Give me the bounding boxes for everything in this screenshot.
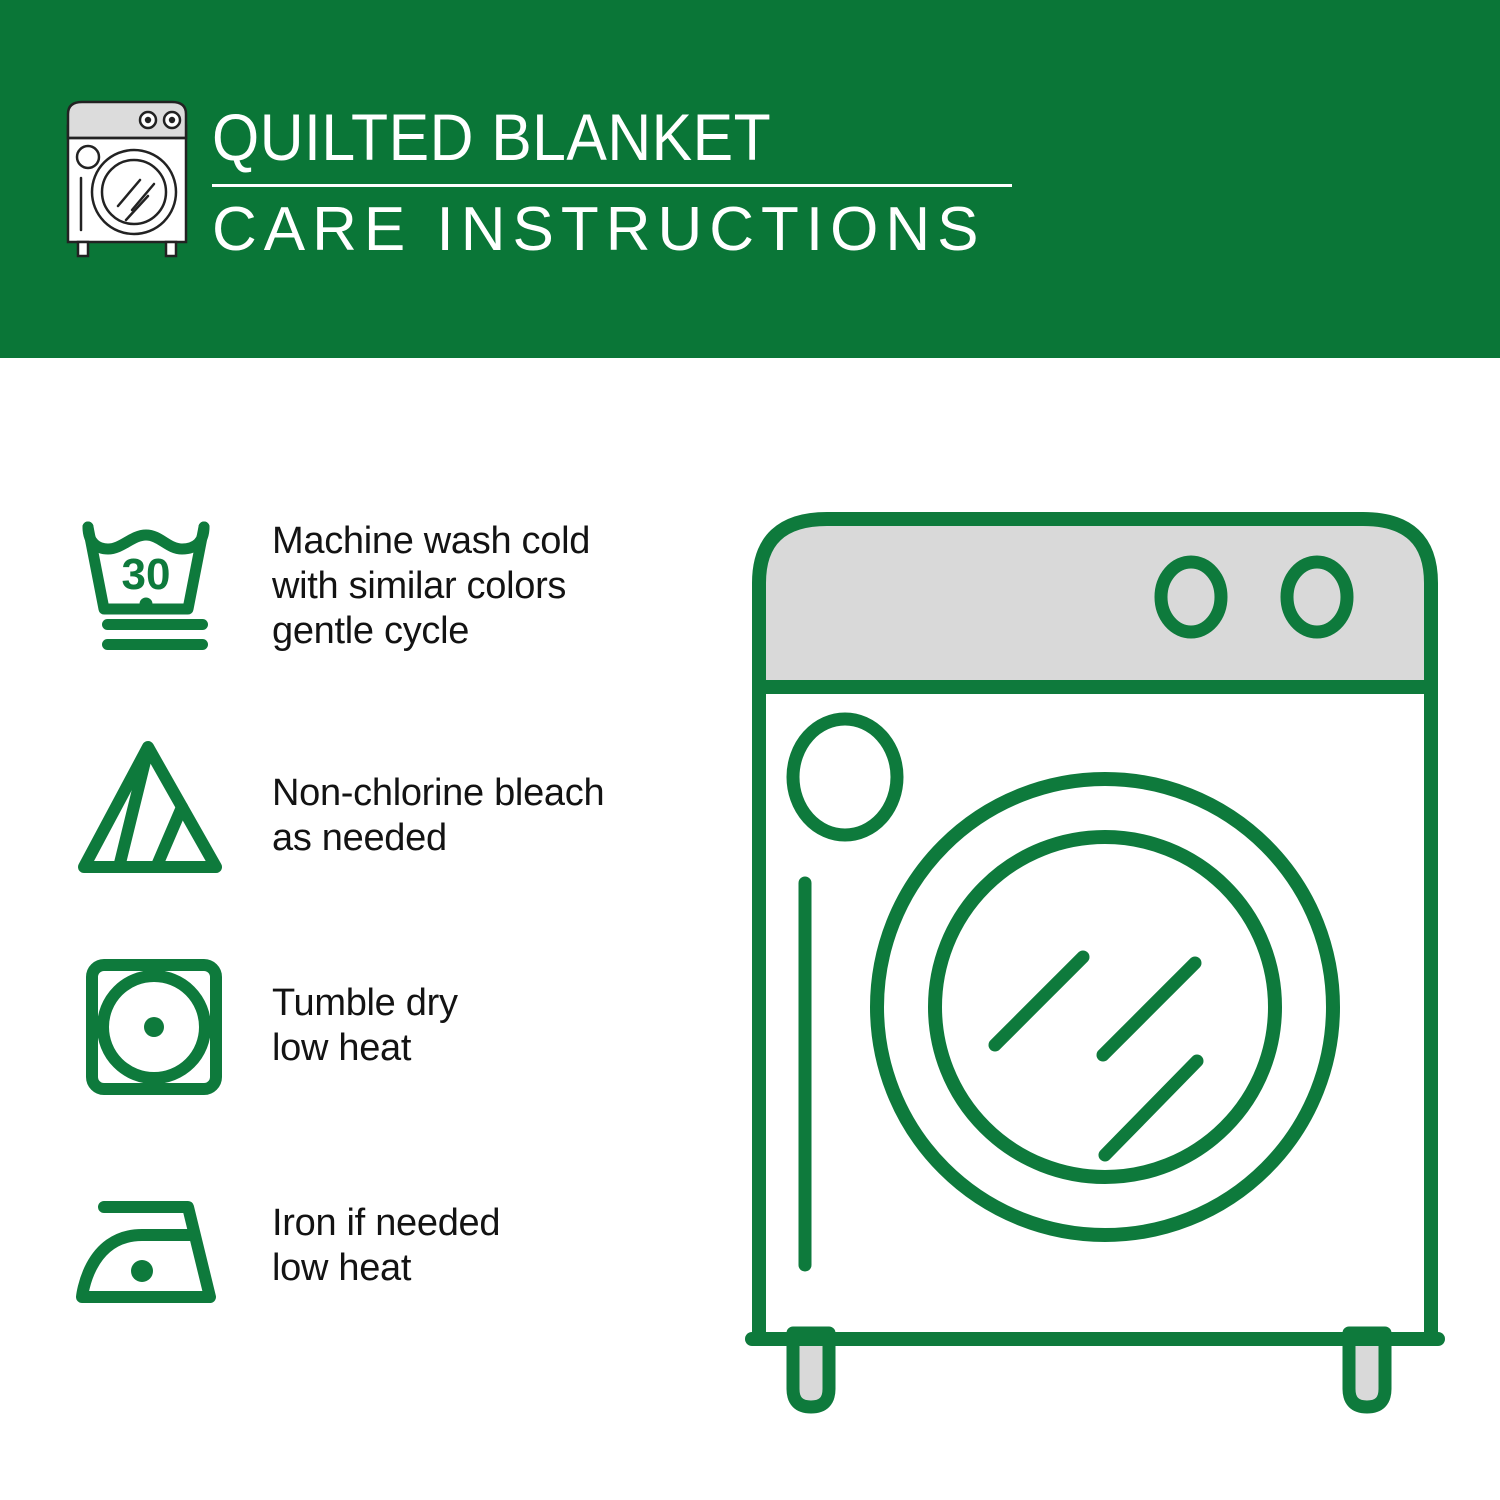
washing-machine-icon bbox=[62, 96, 194, 262]
wash-tub-30-gentle-icon: 30 bbox=[70, 505, 240, 665]
care-text-wash: Machine wash cold with similar colors ge… bbox=[272, 505, 590, 654]
title-block: QUILTED BLANKET CARE INSTRUCTIONS bbox=[212, 96, 1012, 265]
care-text-tumble-dry: Tumble dry low heat bbox=[272, 949, 458, 1071]
care-row-iron: Iron if needed low heat bbox=[70, 1171, 710, 1393]
washer-door-streak-2 bbox=[1103, 963, 1195, 1055]
page-title: QUILTED BLANKET bbox=[212, 100, 948, 174]
washer-control-panel bbox=[759, 519, 1431, 687]
care-text-bleach: Non-chlorine bleach as needed bbox=[272, 727, 604, 861]
washer-dispenser-circle bbox=[793, 719, 897, 835]
care-row-bleach: Non-chlorine bleach as needed bbox=[70, 727, 710, 949]
care-line: Tumble dry bbox=[272, 981, 458, 1026]
care-line: with similar colors bbox=[272, 564, 590, 609]
care-text-iron: Iron if needed low heat bbox=[272, 1171, 500, 1291]
care-line: gentle cycle bbox=[272, 609, 590, 654]
care-line: Machine wash cold bbox=[272, 519, 590, 564]
front-load-washing-machine-illustration bbox=[745, 505, 1445, 1425]
care-line: Non-chlorine bleach bbox=[272, 771, 604, 816]
washer-door-outer-ring bbox=[877, 779, 1333, 1235]
care-row-tumble-dry: Tumble dry low heat bbox=[70, 949, 710, 1171]
care-line: as needed bbox=[272, 816, 604, 861]
wash-temperature-label: 30 bbox=[122, 550, 171, 599]
non-chlorine-bleach-triangle-icon bbox=[70, 727, 240, 887]
care-line: low heat bbox=[272, 1246, 500, 1291]
washer-door-inner-ring bbox=[935, 837, 1275, 1177]
care-row-wash: 30 Machine wash cold with similar colors… bbox=[70, 505, 710, 727]
washer-door-streak-1 bbox=[995, 957, 1083, 1045]
header-banner: QUILTED BLANKET CARE INSTRUCTIONS bbox=[0, 0, 1500, 358]
title-divider bbox=[212, 184, 1012, 187]
tumble-dry-low-icon bbox=[70, 949, 240, 1109]
header-content: QUILTED BLANKET CARE INSTRUCTIONS bbox=[62, 96, 1012, 265]
care-line: Iron if needed bbox=[272, 1201, 500, 1246]
care-line: low heat bbox=[272, 1026, 458, 1071]
page-subtitle: CARE INSTRUCTIONS bbox=[212, 195, 1012, 265]
iron-low-heat-icon bbox=[70, 1171, 240, 1331]
washer-door-streak-3 bbox=[1105, 1061, 1197, 1155]
care-instruction-list: 30 Machine wash cold with similar colors… bbox=[70, 505, 710, 1393]
